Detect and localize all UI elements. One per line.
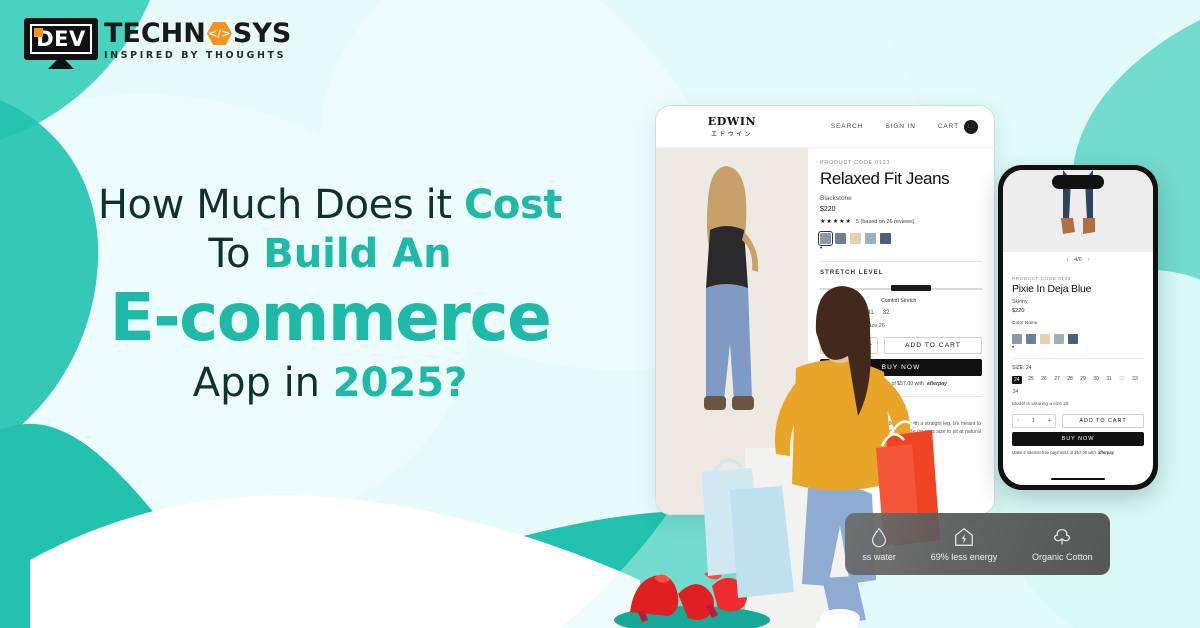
logo-sys-text: SYS xyxy=(233,20,291,47)
phone-color-swatch-4[interactable] xyxy=(1054,334,1064,344)
logo-tagline: INSPIRED BY THOUGHTS xyxy=(104,50,291,61)
hero-headline: How Much Does it Cost To Build An E-comm… xyxy=(0,182,660,410)
product-colorway: Blackstone xyxy=(820,195,982,202)
phone-size-26[interactable]: 26 xyxy=(1041,376,1048,384)
phone-size-33[interactable]: 33 xyxy=(1132,376,1139,384)
cotton-boll-icon xyxy=(1051,526,1073,548)
phone-quantity-decrement[interactable]: - xyxy=(1017,418,1019,424)
logo-word-row: TECHN </> SYS xyxy=(104,20,291,47)
energy-house-icon xyxy=(953,526,975,548)
phone-size-27[interactable]: 27 xyxy=(1054,376,1061,384)
carousel-next-icon[interactable]: › xyxy=(1088,257,1090,263)
phone-size-30[interactable]: 30 xyxy=(1093,376,1100,384)
phone-product-code: PRODUCT CODE 0123 xyxy=(1012,276,1144,281)
eco-item-water: ss water xyxy=(862,526,896,562)
nav-cart-label: CART xyxy=(938,123,959,130)
phone-color-swatch-row xyxy=(1012,334,1144,344)
product-code: PRODUCT CODE 0123 xyxy=(820,160,982,166)
phone-mockup: ‹ 4/6 › PRODUCT CODE 0123 Pixie In Deja … xyxy=(998,165,1158,490)
nav-item-signin[interactable]: SIGN IN xyxy=(885,123,916,130)
nav-item-search[interactable]: SEARCH xyxy=(831,123,864,130)
photo-carousel-controls[interactable]: ‹ 4/6 › xyxy=(1003,252,1153,268)
carousel-counter: 4/6 xyxy=(1074,257,1082,263)
rating-text: 5 (based on 26 reviews) xyxy=(856,219,915,225)
headline-line-1-plain: How Much Does it xyxy=(98,182,464,228)
phone-product-title: Pixie In Deja Blue xyxy=(1012,283,1144,295)
phone-size-28[interactable]: 28 xyxy=(1067,376,1074,384)
eco-label-cotton: Organic Cotton xyxy=(1032,552,1093,562)
phone-size-row: 24 25 26 27 28 29 30 31 32 33 34 xyxy=(1012,376,1144,395)
headline-line-2: To Build An xyxy=(0,228,660,280)
phone-quantity-increment[interactable]: + xyxy=(1048,418,1051,424)
phone-add-to-cart-button[interactable]: ADD TO CART xyxy=(1062,414,1144,428)
phone-swatch-selected-dot: • xyxy=(1012,345,1144,351)
phone-product-detail: PRODUCT CODE 0123 Pixie In Deja Blue Ski… xyxy=(1003,268,1153,455)
phone-size-24[interactable]: 24 xyxy=(1012,376,1022,384)
code-hexagon-icon: </> xyxy=(207,21,232,46)
eco-item-cotton: Organic Cotton xyxy=(1032,526,1093,562)
tablet-store-header: EDWIN エドウイン SEARCH SIGN IN CART 10 xyxy=(656,106,994,148)
phone-color-swatch-2[interactable] xyxy=(1026,334,1036,344)
headline-line-3-accent: E-commerce xyxy=(110,279,551,356)
store-name: EDWIN xyxy=(672,115,792,128)
phone-notch xyxy=(1052,175,1104,189)
phone-size-31[interactable]: 31 xyxy=(1106,376,1113,384)
phone-size-29[interactable]: 29 xyxy=(1080,376,1087,384)
phone-color-label: Color Name xyxy=(1012,321,1144,326)
phone-color-swatch-1[interactable] xyxy=(1012,334,1022,344)
logo-dev-text: DEV xyxy=(36,29,86,50)
rating-stars-icon: ★★★★★ xyxy=(820,218,852,225)
monitor-accent-dot xyxy=(34,28,43,37)
store-name-japanese: エドウイン xyxy=(672,129,792,138)
phone-buy-now-button[interactable]: BUY NOW xyxy=(1012,432,1144,446)
nav-item-cart[interactable]: CART 10 xyxy=(938,120,978,134)
headline-line-4-plain: App in xyxy=(193,360,333,406)
phone-color-swatch-3[interactable] xyxy=(1040,334,1050,344)
eco-label-water: ss water xyxy=(862,552,896,562)
headline-line-1: How Much Does it Cost xyxy=(0,182,660,228)
phone-size-25[interactable]: 25 xyxy=(1028,376,1035,384)
monitor-screen: DEV xyxy=(30,24,92,54)
logo-wordmark: TECHN </> SYS INSPIRED BY THOUGHTS xyxy=(104,18,291,61)
carousel-prev-icon[interactable]: ‹ xyxy=(1066,257,1068,263)
store-brand[interactable]: EDWIN エドウイン xyxy=(672,115,792,138)
headline-line-2-plain: To xyxy=(208,231,263,277)
phone-divider-1 xyxy=(1012,358,1144,359)
phone-afterpay-brand: afterpay xyxy=(1098,450,1114,455)
headline-line-1-accent: Cost xyxy=(464,182,562,228)
phone-screen: ‹ 4/6 › PRODUCT CODE 0123 Pixie In Deja … xyxy=(1003,170,1153,485)
phone-home-indicator xyxy=(1051,478,1105,481)
phone-product-price: $220 xyxy=(1012,308,1144,314)
headline-line-4: App in 2025? xyxy=(0,356,660,410)
phone-size-34[interactable]: 34 xyxy=(1012,389,1019,395)
phone-color-swatch-5[interactable] xyxy=(1068,334,1078,344)
eco-item-energy: 69% less energy xyxy=(931,526,998,562)
product-title: Relaxed Fit Jeans xyxy=(820,169,982,189)
phone-model-size-note: Model is wearing a size 26 xyxy=(1012,402,1144,407)
phone-afterpay-text: Make 4 interest-free payments of $57.00 … xyxy=(1012,450,1096,455)
product-rating: ★★★★★ 5 (based on 26 reviews) xyxy=(820,218,982,225)
company-logo[interactable]: DEV TECHN </> SYS INSPIRED BY THOUGHTS xyxy=(24,18,291,61)
logo-techn-text: TECHN xyxy=(104,20,206,47)
phone-afterpay-notice: Make 4 interest-free payments of $57.00 … xyxy=(1012,450,1144,455)
phone-size-label: SIZE: 24 xyxy=(1012,365,1144,371)
eco-label-energy: 69% less energy xyxy=(931,552,998,562)
store-nav: SEARCH SIGN IN CART 10 xyxy=(831,120,978,134)
phone-quantity-value: 1 xyxy=(1032,418,1035,424)
phone-size-32: 32 xyxy=(1119,376,1126,384)
monitor-icon: DEV xyxy=(24,18,98,60)
headline-line-4-accent: 2025? xyxy=(333,360,468,406)
phone-quantity-stepper[interactable]: - 1 + xyxy=(1012,414,1056,428)
water-drop-icon xyxy=(868,526,890,548)
cart-count-badge: 10 xyxy=(964,120,978,134)
eco-badges-banner: ss water 69% less energy Organic Cotton xyxy=(845,513,1110,575)
phone-purchase-row: - 1 + ADD TO CART xyxy=(1012,414,1144,428)
product-price: $220 xyxy=(820,206,982,213)
headline-line-2-accent: Build An xyxy=(263,231,451,277)
headline-line-3: E-commerce xyxy=(0,280,660,356)
phone-product-fit: Skinny xyxy=(1012,299,1144,305)
